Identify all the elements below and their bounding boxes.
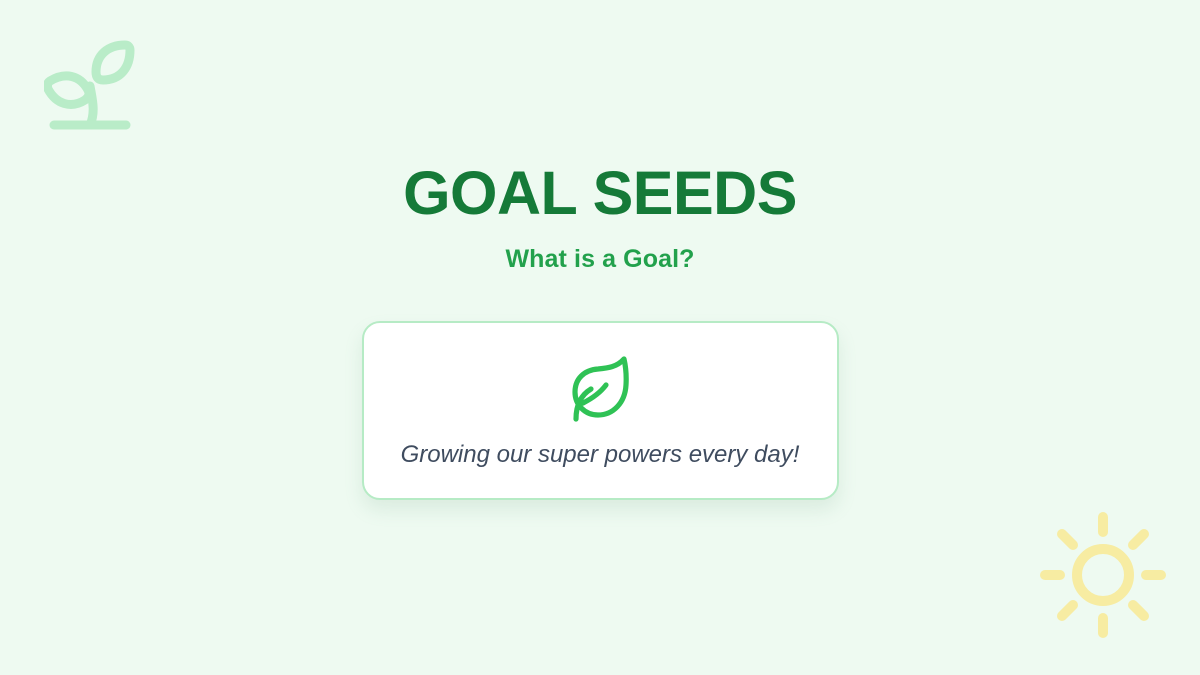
slide-content: GOAL SEEDS What is a Goal? Growing our s… [0,0,1200,675]
leaf-icon-glyph [569,353,631,423]
page-subtitle: What is a Goal? [505,246,694,274]
page-title: GOAL SEEDS [403,163,797,224]
info-card: Growing our super powers every day! [362,321,839,500]
slide-canvas: GOAL SEEDS What is a Goal? Growing our s… [0,0,1200,675]
leaf-icon [569,353,631,423]
card-caption: Growing our super powers every day! [401,441,800,470]
